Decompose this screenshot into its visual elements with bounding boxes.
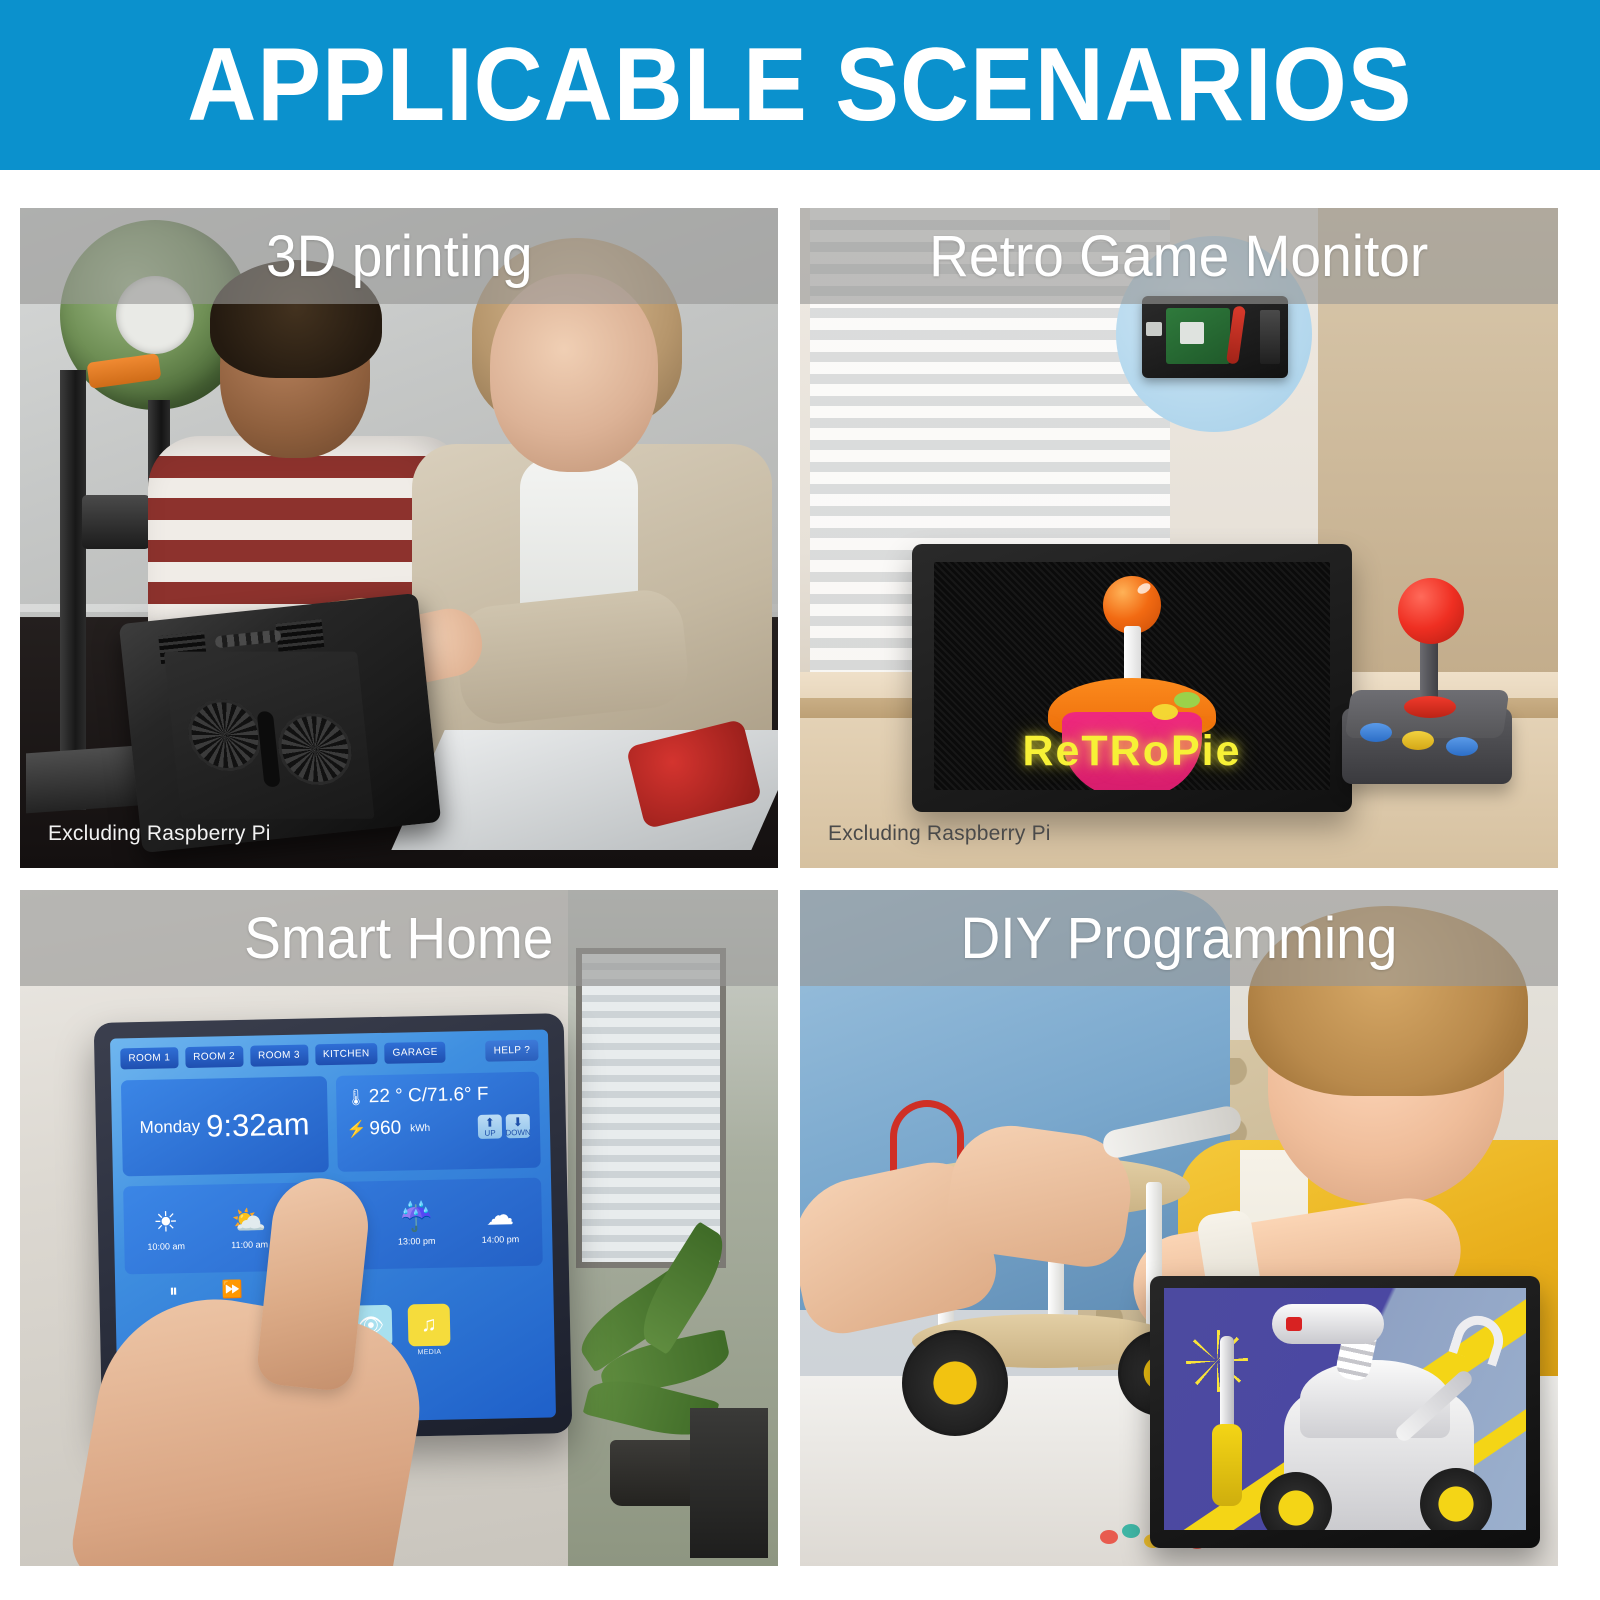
forecast-item-5[interactable]: ☁ 14:00 pm [481,1201,519,1245]
forecast-item-2[interactable]: ⛅ 11:00 am [230,1206,268,1250]
spark-burst-icon [1186,1330,1248,1392]
monitor-vent-right [276,619,325,652]
pause-icon[interactable]: ⏸ [169,1281,178,1301]
power-up-button[interactable]: ⬆ UP [478,1114,502,1138]
window-with-blinds [576,948,726,1268]
panel-title-band-retro: Retro Game Monitor [800,208,1558,304]
retro-monitor-screen: ReTRoPie [912,544,1352,812]
robot-illustration-screen [1164,1288,1526,1530]
panel-caption-retro: Excluding Raspberry Pi [828,822,1051,846]
panel-title-band-diy: DIY Programming [800,890,1558,986]
joystick-button-blue-1[interactable] [1360,723,1392,742]
forecast-time-4: 13:00 pm [398,1235,436,1246]
panel-smart-home: ROOM 1 ROOM 2 ROOM 3 KITCHEN GARAGE HELP… [20,890,778,1566]
page-title: APPLICABLE SCENARIOS [187,33,1412,137]
panel-diy-programming: DIY Programming [800,890,1558,1566]
robot-head [1272,1304,1384,1344]
quick-action-media-label: MEDIA [418,1349,442,1356]
power-adjust-group: ⬆ UP ⬇ DOWN [478,1114,530,1139]
joystick-button-blue-2[interactable] [1446,737,1478,756]
forecast-item-1[interactable]: ☀ 10:00 am [147,1208,185,1252]
tab-kitchen[interactable]: KITCHEN [315,1043,378,1065]
robot-dome [1300,1360,1450,1438]
floor-speaker [690,1408,768,1558]
forecast-time-1: 10:00 am [147,1241,185,1252]
fast-forward-icon[interactable]: ⏩ [222,1280,244,1300]
temperature-value: 22 ° C/71.6° F [369,1084,489,1109]
power-up-label: UP [484,1128,495,1137]
panel-title-band-3d-printing: 3D printing [20,208,778,304]
raspberry-pi-in-case [1142,296,1288,378]
raspberry-pi-monitor-rear [119,593,441,853]
panel-title-retro-game-monitor: Retro Game Monitor [929,223,1428,290]
lightning-icon: ⚡ [346,1119,362,1139]
power-unit: kWh [410,1122,430,1133]
power-value: 960 [369,1118,401,1141]
panel-3d-printing: 3D printing Excluding Raspberry Pi [20,208,778,868]
joystick-button-yellow[interactable] [1402,731,1434,750]
robot-eye-icon [1286,1317,1302,1331]
retropie-logo-text: ReTRoPie [934,727,1330,776]
retropie-boot-screen: ReTRoPie [934,562,1330,790]
panel-title-3d-printing: 3D printing [266,223,532,290]
room-tab-bar: ROOM 1 ROOM 2 ROOM 3 KITCHEN GARAGE HELP… [120,1040,538,1070]
diy-monitor-inset [1150,1276,1540,1548]
clock-card: Monday 9:32am [121,1076,328,1176]
panel-retro-game-monitor: ReTRoPie Retro Game Monitor Excluding Ra… [800,208,1558,868]
bead [1122,1524,1140,1538]
raspberry-pi-board [1166,308,1230,364]
display-connector [1260,310,1280,364]
screwdriver-handle-icon [1212,1424,1242,1506]
sun-icon: ☀ [153,1208,179,1237]
printer-frame-left [60,370,86,810]
clock-day: Monday [139,1117,200,1138]
joystick-ball[interactable] [1398,578,1464,644]
quick-action-media[interactable]: ♫ MEDIA [407,1304,450,1357]
clock-time: 9:32am [206,1106,310,1144]
bead [1100,1530,1118,1544]
applicable-scenarios-page: APPLICABLE SCENARIOS [0,0,1600,1600]
backplate-slot [257,711,281,787]
panel-title-band-smart-home: Smart Home [20,890,778,986]
panel-title-diy-programming: DIY Programming [961,905,1398,972]
printer-extruder-head [82,495,150,549]
robot-wheel-right [1420,1468,1492,1530]
status-cards-row: Monday 9:32am 🌡 22 ° C/71.6° F ⚡ 960 [121,1072,541,1177]
monitor-back-plate [164,652,375,819]
arrow-up-icon: ⬆ [485,1116,495,1128]
robot-wheel-front [902,1330,1008,1436]
tab-help[interactable]: HELP ? [485,1040,538,1062]
forecast-item-4[interactable]: ☔ 13:00 pm [397,1202,435,1246]
temperature-row: 🌡 22 ° C/71.6° F [346,1083,530,1109]
power-down-label: DOWN [505,1127,531,1137]
joystick-base-ring [1404,696,1456,718]
cooling-fan-left-icon [185,699,265,771]
sun-cloud-icon: ⛅ [231,1206,266,1235]
pie-button-yellow-icon [1152,704,1178,720]
forecast-time-2: 11:00 am [231,1239,268,1250]
music-note-icon: ♫ [407,1304,450,1347]
panel-caption-3d-printing: Excluding Raspberry Pi [48,822,271,846]
woman-arm [452,586,691,727]
usb-connector-icon [1146,322,1162,336]
page-header: APPLICABLE SCENARIOS [0,0,1600,170]
tab-garage[interactable]: GARAGE [384,1042,446,1064]
pie-button-green-icon [1174,692,1200,708]
scenario-grid: 3D printing Excluding Raspberry Pi [20,208,1580,1583]
cloud-icon: ☁ [486,1201,515,1230]
power-row: ⚡ 960 kWh ⬆ UP ⬇ [346,1114,530,1142]
rain-cloud-icon: ☔ [398,1202,433,1231]
forecast-time-5: 14:00 pm [482,1234,520,1245]
tab-room-3[interactable]: ROOM 3 [250,1044,308,1066]
power-down-button[interactable]: ⬇ DOWN [506,1114,530,1138]
panel-title-smart-home: Smart Home [244,905,553,972]
cooling-fan-right-icon [275,713,355,785]
environment-card: 🌡 22 ° C/71.6° F ⚡ 960 kWh ⬆ [335,1072,540,1172]
arrow-down-icon: ⬇ [513,1116,523,1128]
tab-room-1[interactable]: ROOM 1 [120,1047,178,1069]
thermometer-icon: 🌡 [346,1087,362,1107]
tab-room-2[interactable]: ROOM 2 [185,1046,243,1068]
retro-joystick[interactable] [1342,594,1512,784]
